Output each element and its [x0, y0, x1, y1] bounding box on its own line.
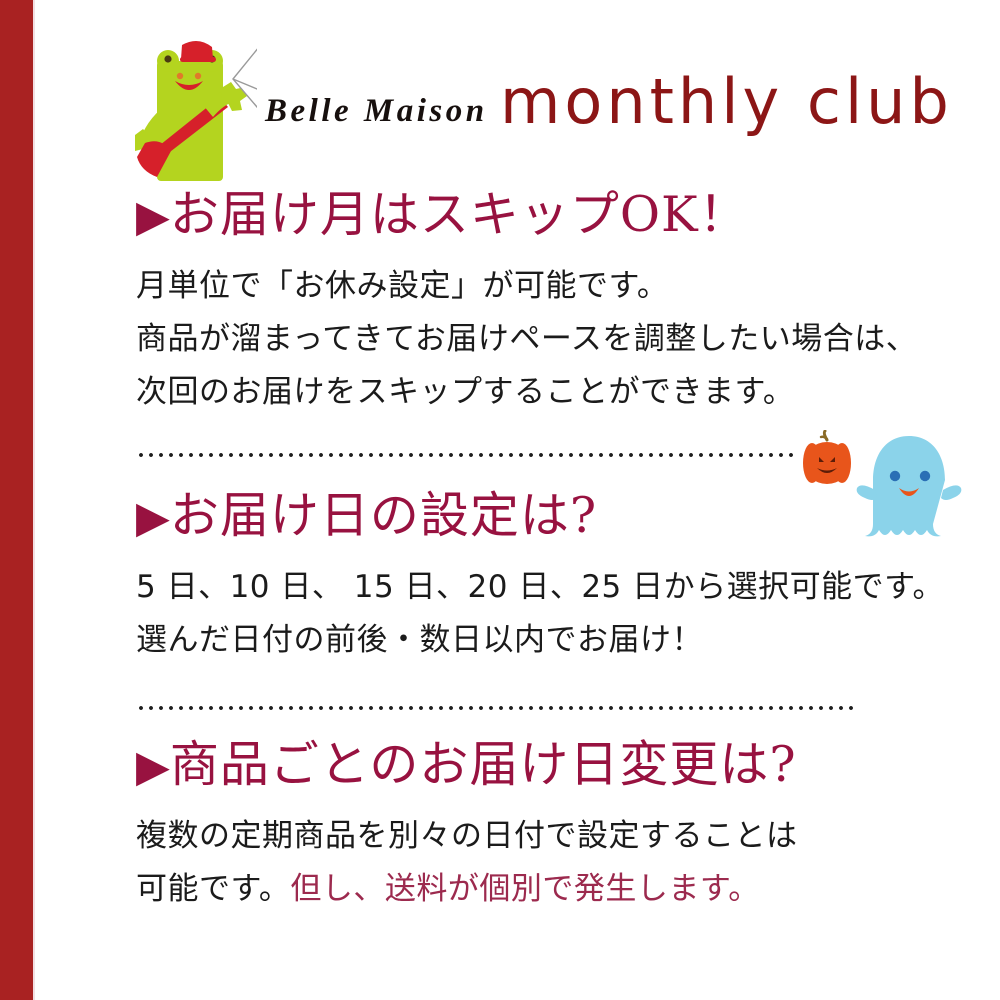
- section-delivery-date: ▶お届け日の設定は? 5 日、10 日、 15 日、20 日、25 日から選択可…: [136, 487, 996, 667]
- triangle-marker-icon: ▶: [136, 191, 170, 242]
- section-skip-line-2: 商品が溜まってきてお届けペースを調整したい場合は、: [136, 313, 996, 366]
- section-per-item-change-line-1: 複数の定期商品を別々の日付で設定することは: [136, 810, 996, 863]
- section-per-item-change-heading-text: 商品ごとのお届け日変更は?: [170, 736, 797, 793]
- frog-mascot-icon: [125, 35, 257, 183]
- page-header: Belle Maison monthly club: [125, 33, 915, 183]
- section-skip-heading: ▶お届け月はスキップOK！: [136, 186, 996, 244]
- section-delivery-date-heading-text: お届け日の設定は?: [170, 487, 597, 544]
- monthly-club-info-page: Belle Maison monthly club ▶お届け月はスキップOK！ …: [0, 0, 1000, 1000]
- final-line-normal: 可能です。: [136, 871, 290, 907]
- section-per-item-change: ▶商品ごとのお届け日変更は? 複数の定期商品を別々の日付で設定することは 可能で…: [136, 736, 996, 916]
- section-skip-line-3: 次回のお届けをスキップすることができます。: [136, 366, 996, 419]
- pumpkin-icon: [800, 430, 854, 486]
- section-per-item-change-line-2: 可能です。但し、送料が個別で発生します。: [136, 863, 996, 916]
- section-delivery-date-heading: ▶お届け日の設定は?: [136, 487, 996, 545]
- shipping-fee-note: 但し、送料が個別で発生します。: [290, 871, 759, 907]
- section-skip-heading-text: お届け月はスキップOK！: [170, 186, 749, 243]
- section-skip-line-1: 月単位で「お休み設定」が可能です。: [136, 260, 996, 313]
- section-delivery-date-line-2: 選んだ日付の前後・数日以内でお届け！: [136, 614, 996, 667]
- section-per-item-change-heading: ▶商品ごとのお届け日変更は?: [136, 736, 996, 794]
- left-accent-stripe: [0, 0, 33, 1000]
- divider-1: [136, 452, 796, 458]
- triangle-marker-icon: ▶: [136, 741, 170, 792]
- brand-script-logo: Belle Maison: [265, 93, 488, 130]
- page-title: monthly club: [500, 71, 953, 133]
- section-delivery-date-line-1: 5 日、10 日、 15 日、20 日、25 日から選択可能です。: [136, 561, 996, 614]
- left-accent-hairline: [33, 0, 35, 1000]
- triangle-marker-icon: ▶: [136, 492, 170, 543]
- divider-2: [136, 705, 858, 711]
- section-skip: ▶お届け月はスキップOK！ 月単位で「お休み設定」が可能です。 商品が溜まってき…: [136, 186, 996, 420]
